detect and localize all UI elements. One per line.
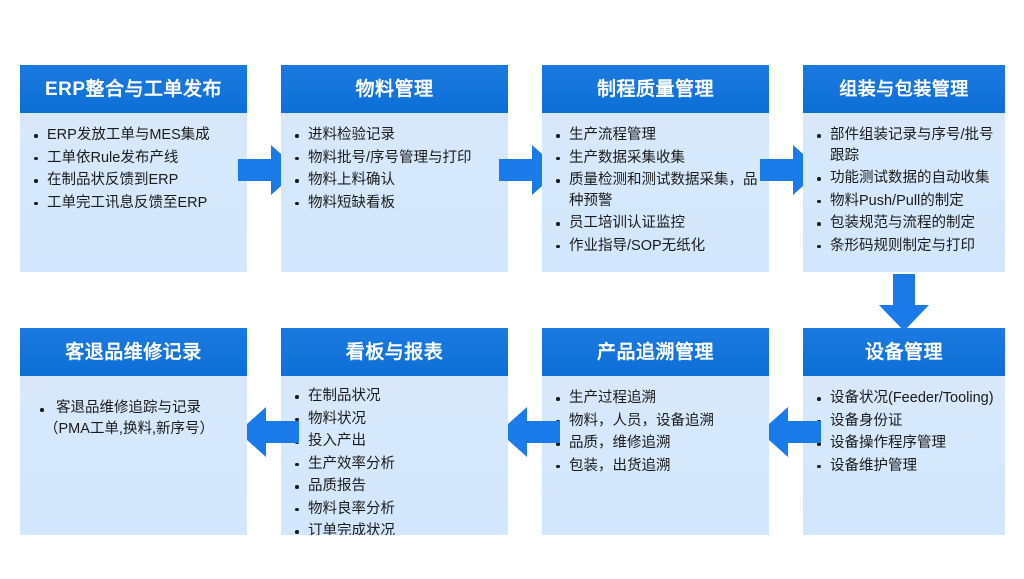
box-title-equipment-management: 设备管理 xyxy=(865,343,943,362)
list-item: ERP发放工单与MES集成 xyxy=(30,125,237,146)
process-box-erp-integration[interactable]: ERP整合与工单发布 ERP发放工单与MES集成 工单依Rule发布产线 在制品… xyxy=(20,65,247,272)
box-body-material-management: 进料检验记录 物料批号/序号管理与打印 物料上料确认 物料短缺看板 xyxy=(281,113,508,272)
process-box-assembly-packaging-management[interactable]: 组装与包装管理 部件组装记录与序号/批号跟踪 功能测试数据的自动收集 物料Pus… xyxy=(803,65,1005,272)
list-item: 包装，出货追溯 xyxy=(552,456,759,477)
bullet-list-equipment-management: 设备状况(Feeder/Tooling) 设备身份证 设备操作程序管理 设备维护… xyxy=(813,388,995,476)
list-item: 条形码规则制定与打印 xyxy=(813,236,995,257)
process-box-dashboard-reports[interactable]: 看板与报表 在制品状况 物料状况 投入产出 生产效率分析 品质报告 物料良率分析… xyxy=(281,328,508,535)
box-header-process-quality-management: 制程质量管理 xyxy=(542,65,769,113)
list-item: 品质，维修追溯 xyxy=(552,433,759,454)
list-item: 生产流程管理 xyxy=(552,125,759,146)
arrow-traceability-to-dashboard xyxy=(499,404,561,460)
list-item: 物料Push/Pull的制定 xyxy=(813,191,995,212)
box-header-assembly-packaging-management: 组装与包装管理 xyxy=(803,65,1005,113)
box-body-equipment-management: 设备状况(Feeder/Tooling) 设备身份证 设备操作程序管理 设备维护… xyxy=(803,376,1005,535)
list-item-line-2: （PMA工单,换料,新序号） xyxy=(44,419,237,440)
list-item: 生产过程追溯 xyxy=(552,388,759,409)
list-item: 员工培训认证监控 xyxy=(552,213,759,234)
box-body-customer-return-repair-record: 客退品维修追踪与记录 （PMA工单,换料,新序号） xyxy=(20,376,247,535)
box-header-product-traceability-management: 产品追溯管理 xyxy=(542,328,769,376)
list-item: 设备身份证 xyxy=(813,411,995,432)
arrow-equipment-to-traceability xyxy=(760,404,822,460)
list-item: 工单依Rule发布产线 xyxy=(30,148,237,169)
list-item: 设备操作程序管理 xyxy=(813,433,995,454)
arrow-assembly-to-equipment xyxy=(876,274,932,332)
arrow-dashboard-to-return xyxy=(238,404,300,460)
list-item: 功能测试数据的自动收集 xyxy=(813,168,995,189)
bullet-list-customer-return-repair-record: 客退品维修追踪与记录 （PMA工单,换料,新序号） xyxy=(30,398,237,440)
bullet-list-assembly-packaging-management: 部件组装记录与序号/批号跟踪 功能测试数据的自动收集 物料Push/Pull的制… xyxy=(813,125,995,256)
list-item: 客退品维修追踪与记录 （PMA工单,换料,新序号） xyxy=(30,398,237,440)
process-box-material-management[interactable]: 物料管理 进料检验记录 物料批号/序号管理与打印 物料上料确认 物料短缺看板 xyxy=(281,65,508,272)
box-header-material-management: 物料管理 xyxy=(281,65,508,113)
list-item: 物料，人员，设备追溯 xyxy=(552,411,759,432)
list-item: 物料短缺看板 xyxy=(291,193,498,214)
bullet-list-process-quality-management: 生产流程管理 生产数据采集收集 质量检测和测试数据采集，品种预警 员工培训认证监… xyxy=(552,125,759,256)
box-header-dashboard-reports: 看板与报表 xyxy=(281,328,508,376)
box-header-erp-integration: ERP整合与工单发布 xyxy=(20,65,247,113)
box-title-product-traceability-management: 产品追溯管理 xyxy=(597,343,714,362)
list-item: 在制品状况 xyxy=(291,386,498,407)
bullet-list-dashboard-reports: 在制品状况 物料状况 投入产出 生产效率分析 品质报告 物料良率分析 订单完成状… xyxy=(291,386,498,535)
list-item: 物料上料确认 xyxy=(291,170,498,191)
list-item: 设备维护管理 xyxy=(813,456,995,477)
list-item: 设备状况(Feeder/Tooling) xyxy=(813,388,995,409)
box-body-product-traceability-management: 生产过程追溯 物料，人员，设备追溯 品质，维修追溯 包装，出货追溯 xyxy=(542,376,769,535)
box-body-erp-integration: ERP发放工单与MES集成 工单依Rule发布产线 在制品状反馈到ERP 工单完… xyxy=(20,113,247,272)
process-box-equipment-management[interactable]: 设备管理 设备状况(Feeder/Tooling) 设备身份证 设备操作程序管理… xyxy=(803,328,1005,535)
list-item: 生产效率分析 xyxy=(291,454,498,475)
box-body-dashboard-reports: 在制品状况 物料状况 投入产出 生产效率分析 品质报告 物料良率分析 订单完成状… xyxy=(281,376,508,535)
process-box-customer-return-repair-record[interactable]: 客退品维修记录 客退品维修追踪与记录 （PMA工单,换料,新序号） xyxy=(20,328,247,535)
list-item: 投入产出 xyxy=(291,431,498,452)
list-item: 在制品状反馈到ERP xyxy=(30,170,237,191)
list-item: 物料批号/序号管理与打印 xyxy=(291,148,498,169)
bullet-list-product-traceability-management: 生产过程追溯 物料，人员，设备追溯 品质，维修追溯 包装，出货追溯 xyxy=(552,388,759,476)
box-title-customer-return-repair-record: 客退品维修记录 xyxy=(65,343,202,362)
list-item: 部件组装记录与序号/批号跟踪 xyxy=(813,125,995,166)
box-title-erp-integration: ERP整合与工单发布 xyxy=(45,80,222,99)
list-item: 包装规范与流程的制定 xyxy=(813,213,995,234)
box-title-material-management: 物料管理 xyxy=(355,80,433,99)
box-body-process-quality-management: 生产流程管理 生产数据采集收集 质量检测和测试数据采集，品种预警 员工培训认证监… xyxy=(542,113,769,272)
box-body-assembly-packaging-management: 部件组装记录与序号/批号跟踪 功能测试数据的自动收集 物料Push/Pull的制… xyxy=(803,113,1005,272)
list-item: 工单完工讯息反馈至ERP xyxy=(30,193,237,214)
diagram-canvas: ERP整合与工单发布 ERP发放工单与MES集成 工单依Rule发布产线 在制品… xyxy=(0,0,1024,579)
list-item: 品质报告 xyxy=(291,476,498,497)
list-item: 生产数据采集收集 xyxy=(552,148,759,169)
list-item: 物料状况 xyxy=(291,409,498,430)
process-box-product-traceability-management[interactable]: 产品追溯管理 生产过程追溯 物料，人员，设备追溯 品质，维修追溯 包装，出货追溯 xyxy=(542,328,769,535)
list-item: 订单完成状况 xyxy=(291,521,498,535)
list-item-line-1: 客退品维修追踪与记录 xyxy=(56,400,201,416)
list-item: 作业指导/SOP无纸化 xyxy=(552,236,759,257)
box-title-assembly-packaging-management: 组装与包装管理 xyxy=(839,80,969,98)
box-header-customer-return-repair-record: 客退品维修记录 xyxy=(20,328,247,376)
box-header-equipment-management: 设备管理 xyxy=(803,328,1005,376)
box-title-process-quality-management: 制程质量管理 xyxy=(597,80,714,99)
list-item: 物料良率分析 xyxy=(291,499,498,520)
bullet-list-material-management: 进料检验记录 物料批号/序号管理与打印 物料上料确认 物料短缺看板 xyxy=(291,125,498,213)
process-box-process-quality-management[interactable]: 制程质量管理 生产流程管理 生产数据采集收集 质量检测和测试数据采集，品种预警 … xyxy=(542,65,769,272)
box-title-dashboard-reports: 看板与报表 xyxy=(346,343,444,362)
bullet-list-erp-integration: ERP发放工单与MES集成 工单依Rule发布产线 在制品状反馈到ERP 工单完… xyxy=(30,125,237,213)
list-item: 质量检测和测试数据采集，品种预警 xyxy=(552,170,759,211)
list-item: 进料检验记录 xyxy=(291,125,498,146)
